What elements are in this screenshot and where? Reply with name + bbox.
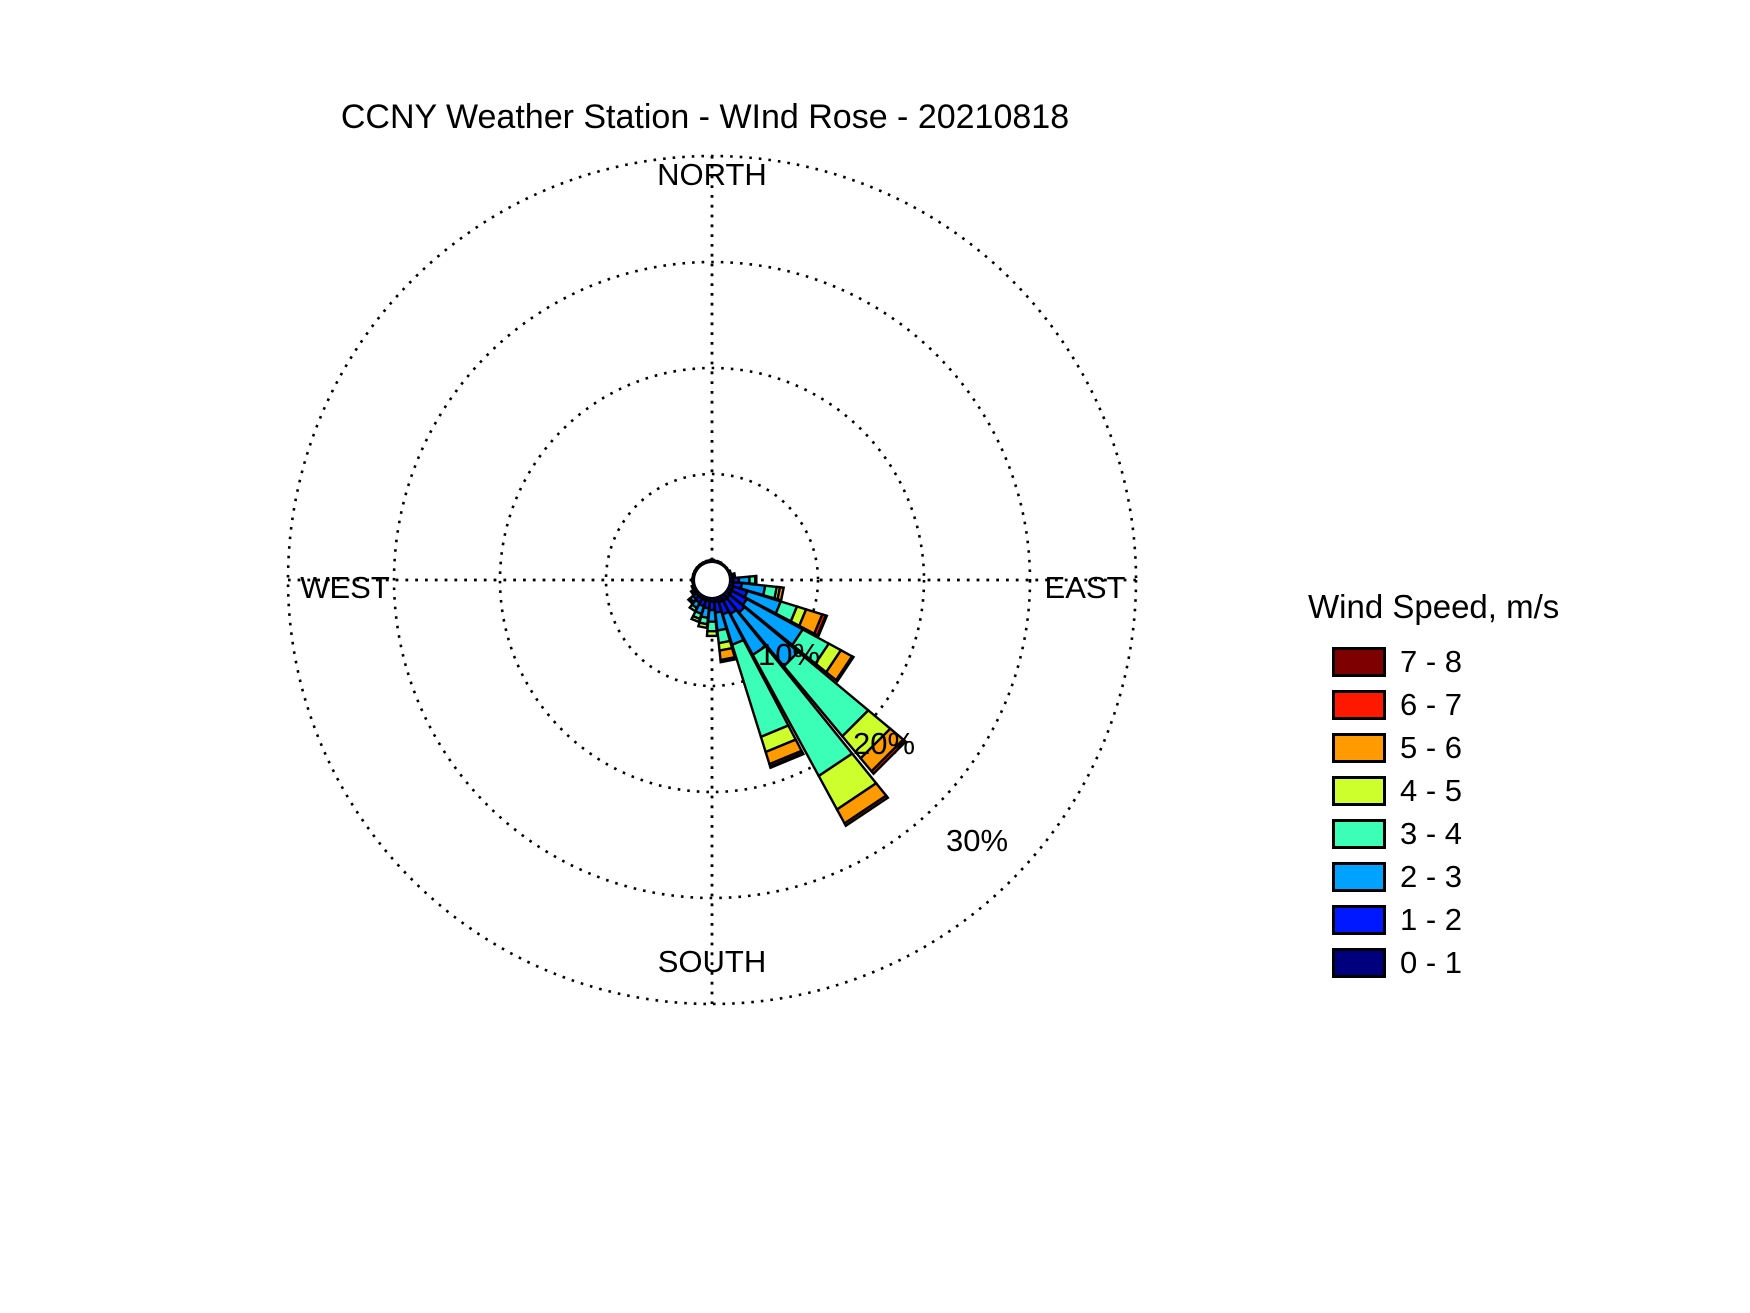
legend-label: 6 - 7 [1400, 687, 1462, 723]
direction-label-east: EAST [1045, 570, 1126, 606]
legend-label: 5 - 6 [1400, 730, 1462, 766]
legend-label: 2 - 3 [1400, 859, 1462, 895]
legend-item[interactable]: 4 - 5 [1332, 769, 1730, 812]
legend-swatch [1332, 647, 1386, 677]
legend-item[interactable]: 1 - 2 [1332, 898, 1730, 941]
legend-item[interactable]: 0 - 1 [1332, 941, 1730, 984]
legend-swatch [1332, 690, 1386, 720]
legend-label: 4 - 5 [1400, 773, 1462, 809]
wind-rose-figure: CCNY Weather Station - WInd Rose - 20210… [0, 0, 1750, 1313]
wind-rose-sector [778, 587, 784, 600]
legend-swatch [1332, 733, 1386, 763]
wind-rose-sector [755, 576, 756, 584]
legend-swatch [1332, 819, 1386, 849]
legend-label: 7 - 8 [1400, 644, 1462, 680]
legend-title: Wind Speed, m/s [1308, 588, 1730, 626]
radial-tick-30: 30% [946, 823, 1008, 859]
legend-swatch [1332, 948, 1386, 978]
legend-item[interactable]: 2 - 3 [1332, 855, 1730, 898]
legend: Wind Speed, m/s 7 - 86 - 75 - 64 - 53 - … [1300, 588, 1730, 984]
direction-label-south: SOUTH [658, 944, 767, 980]
direction-label-west: WEST [300, 570, 390, 606]
legend-swatch [1332, 862, 1386, 892]
radial-tick-20: 20% [853, 726, 915, 762]
legend-rows: 7 - 86 - 75 - 64 - 53 - 42 - 31 - 20 - 1 [1300, 640, 1730, 984]
radial-tick-10: 10% [758, 637, 820, 673]
wind-rose-sector [698, 623, 707, 628]
legend-item[interactable]: 6 - 7 [1332, 683, 1730, 726]
legend-swatch [1332, 905, 1386, 935]
center-hole [695, 563, 729, 597]
legend-label: 3 - 4 [1400, 816, 1462, 852]
legend-label: 0 - 1 [1400, 945, 1462, 981]
direction-label-north: NORTH [657, 157, 767, 193]
legend-item[interactable]: 7 - 8 [1332, 640, 1730, 683]
legend-swatch [1332, 776, 1386, 806]
wind-rose-sector [707, 622, 716, 632]
legend-item[interactable]: 5 - 6 [1332, 726, 1730, 769]
legend-label: 1 - 2 [1400, 902, 1462, 938]
wind-rose-sectors [688, 560, 905, 826]
wind-rose-sector [707, 631, 717, 636]
wind-rose-sector [706, 560, 710, 564]
legend-item[interactable]: 3 - 4 [1332, 812, 1730, 855]
